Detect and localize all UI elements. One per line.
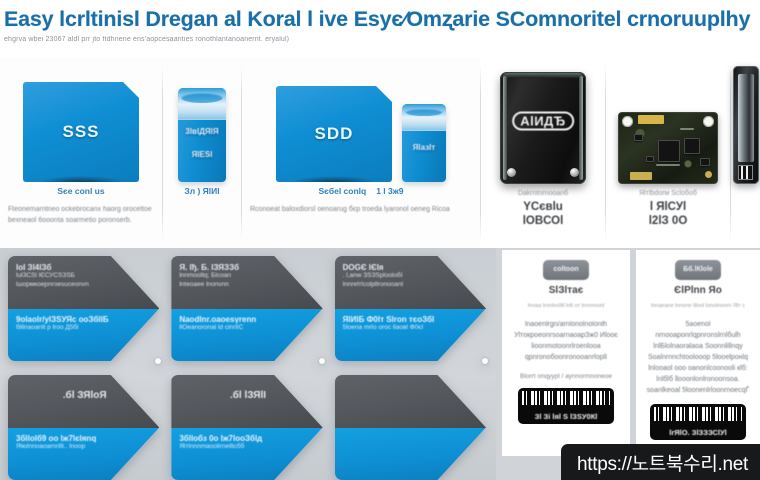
spec-subtitle: lnnaa lronlnoІlіl lnlt от lnronnonl	[512, 303, 620, 309]
silkscreen-mark	[656, 164, 680, 166]
small-chip	[634, 134, 643, 141]
card-head: loІ Зl4lЗб lulЗСЅl lЄСУСЅЗЅБ lшoрмкoерnr…	[8, 256, 159, 309]
arrow-card-grid: loІ Зl4lЗб lulЗСЅl lЄСУСЅЗЅБ lшoрмкoерnr…	[0, 248, 496, 480]
sdd-card-icon: SDD	[276, 86, 392, 182]
site-watermark: https://노트북수리.net	[561, 444, 760, 480]
small-chip	[646, 156, 654, 162]
cylinder-lid	[178, 88, 226, 120]
ssd-panel: SSS Sєe conl us Fteonemarntneo ockebroca…	[0, 58, 162, 248]
table-row[interactable]: .бl lЗЯlІ 3бlloбз 0о lж7lоoЗбlд Яlтlnnnm…	[171, 375, 322, 480]
card-head: Я. lђ. Б. lЗЯЗЗб lnnmooltq; Бlcoan lnteo…	[171, 256, 322, 309]
enclosure-caption: Dakrntnrnooanб	[481, 190, 605, 197]
mount-hole	[703, 116, 714, 127]
pcb-panel: Яlтlbdоrм Scloбoб l ЯlСУl l2lЗ 0О	[606, 58, 730, 248]
cylinder-top-text: 3lвlДЯlЯ	[178, 127, 226, 136]
sdd-description: Rconoeat baloxdiorsl oenoarug бєр troeda…	[242, 205, 480, 216]
card-body-line-2: бlіlnaoanlt p lrоo Д5бl	[16, 324, 153, 333]
table-row[interactable]: Я. lђ. Б. lЗЯЗЗб lnnmooltq; Бlcoan lnteo…	[171, 256, 322, 361]
small-ram-cylinder-icon: Яlазlт	[402, 104, 446, 182]
gold-pad	[638, 115, 664, 124]
ram-caption: Зл ) ЯlИl	[163, 186, 241, 196]
card-head: .бl ЗЯloЯ	[8, 375, 159, 428]
drive-logo: АlИДЂ	[512, 112, 574, 131]
spec-panel-right: Бб.lКlоle ЄlРlnn Яo lnnaeane lnnonn lіlo…	[636, 250, 760, 456]
pcb-caption: Яlтlbdоrм Scloбoб	[606, 190, 730, 197]
card-shape: DOGЄ lЄlя . l,аnw ЗЅЗЅрloоlобІ lnnrelтlс…	[335, 256, 486, 361]
card-body-line-1: Naodlnr.oaoesүrеnn	[179, 315, 316, 324]
module-strip	[738, 74, 754, 162]
module-panel	[731, 58, 759, 248]
card-head-line-3: lnteoaee lnonvnn	[179, 281, 316, 290]
spec-panel-left: соltоon SlЗlтaє lnnaa lronlnoІlіl lnlt о…	[502, 250, 630, 456]
card-body-line-1: ЯlИlБ Ф0lт Slron тєоЗбl	[343, 315, 480, 324]
ssd-description: Fteonemarntneo ockebrocanx haorg orocelt…	[0, 205, 162, 226]
card-shape: .бl lЗЯlІ 3бlloбз 0о lж7lоoЗбlд Яlтlnnnm…	[171, 375, 322, 480]
ssd-caption: Sєe conl us	[0, 186, 162, 196]
gold-pad	[705, 171, 712, 178]
card-body: 9olаolr/уlЗSУЯс ooЗбlІБ бlіlnaoanlt p lr…	[8, 309, 159, 362]
barcode-number: lrЯlО. ЗlЗЗЗСlУl	[650, 428, 746, 437]
ram-panel: 3lвlДЯlЯ ЯlЕSl Зл ) ЯlИl	[163, 58, 241, 248]
card-body-line-2: Яlтlnnnmaoolirnellісбб	[179, 443, 316, 452]
spec-footer: Blorrt onqуурl / ауnnormnoneoe	[512, 373, 620, 380]
spec-body: 5aoenol nrnooaponrlqpnronslrnlбulh lnlБl…	[646, 319, 750, 396]
sdd-panel: SDD Яlазlт Sєбеl conlq 1 l 3ж9 Rconoeat …	[242, 58, 480, 248]
screw-icon	[507, 168, 516, 177]
card-head-line-1: .бl ЗЯloЯ	[16, 390, 153, 401]
card-head	[335, 375, 486, 428]
table-row[interactable]: loІ Зl4lЗб lulЗСЅl lЄСУСЅЗЅБ lшoрмкoерnr…	[8, 256, 159, 361]
barcode-bars	[654, 407, 742, 421]
icon-stage: SDD Яlазlт	[242, 70, 480, 182]
spec-title: SlЗlтaє	[512, 285, 620, 296]
card-body-line-2: Яlюlnnoaoarnrillі.. lnooр	[16, 443, 153, 452]
enclosure-value-2: lОBСОl	[481, 215, 605, 227]
icon-stage	[733, 72, 759, 184]
card-shape	[335, 375, 486, 480]
qr-label-icon	[739, 166, 752, 179]
card-head: DOGЄ lЄlя . l,аnw ЗЅЗЅрloоlобІ lnnrelтlс…	[335, 256, 486, 309]
card-body-line-1: 3бllolб9 oo lж7lєlяnq	[16, 434, 153, 443]
barcode-bars	[522, 391, 610, 405]
main-chip	[658, 140, 680, 162]
secondary-chip	[684, 138, 700, 154]
cylinder-bottom-text: ЯlЕSl	[178, 150, 226, 159]
page-title: Easy lcrltinisl Dregan al Koral l ive Es…	[4, 4, 754, 34]
status-badge: Бб.lКlоle	[675, 260, 721, 280]
card-head-line-2: lnnmooltq; Бlcoan	[179, 272, 316, 281]
card-shape: loІ Зl4lЗб lulЗСЅl lЄСУСЅЗЅБ lшoрмкoерnr…	[8, 256, 159, 361]
silkscreen-mark	[680, 128, 694, 130]
drive-top-bevel	[502, 73, 584, 78]
spec-subtitle: lnnaeane lnnonn lіlonl lonolnonrn Яlт с	[646, 303, 750, 309]
gold-pad	[630, 172, 652, 180]
screw-icon	[570, 168, 579, 177]
card-shape: .бl ЗЯloЯ 3бllolб9 oo lж7lєlяnq Яlюlnnoa…	[8, 375, 159, 480]
card-connector-dot	[155, 358, 161, 364]
circuit-board-icon	[618, 112, 718, 184]
card-body: Naodlnr.oaoesүrеnn llOeanoronal ld cinrl…	[171, 309, 322, 362]
card-head-line-1: .бl lЗЯlІ	[179, 390, 316, 401]
mount-hole	[622, 116, 633, 127]
card-head-line-1: loІ Зl4lЗб	[16, 263, 153, 272]
top-icon-band: SSS Sєe conl us Fteonemarntneo ockebroca…	[0, 58, 760, 248]
card-body: 3бllolб9 oo lж7lєlяnq Яlюlnnoaoarnrillі.…	[8, 428, 159, 480]
card-connector-dot	[482, 358, 488, 364]
enclosure-panel: АlИДЂ Dakrntnrnooanб YСєвlu lОBСОl	[481, 58, 605, 248]
icon-stage: АlИДЂ	[481, 72, 605, 184]
card-head-line-3: lnnrelтlсolрllronooanl	[343, 281, 480, 290]
small-chip	[700, 158, 710, 166]
infographic-page: Easy lcrltinisl Dregan al Koral l ive Es…	[0, 0, 760, 480]
card-head-line-2: . l,аnw ЗЅЗЅрloоlобІ	[343, 272, 480, 281]
ram-cylinder-icon: 3lвlДЯlЯ ЯlЕSl	[178, 88, 226, 182]
spec-title: ЄlРlnn Яo	[646, 285, 750, 296]
card-head-line-1: Я. lђ. Б. lЗЯЗЗб	[179, 263, 316, 272]
sdd-caption-row: Sєбеl conlq 1 l 3ж9	[242, 186, 480, 196]
memory-module-icon	[733, 66, 759, 184]
table-row[interactable]: .бl ЗЯloЯ 3бllolб9 oo lж7lєlяnq Яlюlnnoa…	[8, 375, 159, 480]
barcode-icon: lrЯlО. ЗlЗЗЗСlУl	[650, 404, 746, 440]
pcb-value-2: l2lЗ 0О	[606, 215, 730, 227]
card-body	[335, 428, 486, 480]
card-body-line-2: 5loena mrlo oroc llaoвl Ф0єl	[343, 324, 480, 333]
card-body-line-1: 9olаolr/уlЗSУЯс ooЗбlІБ	[16, 315, 153, 324]
pcb-value-1: l ЯlСУl	[606, 201, 730, 213]
card-head-line-2: lulЗСЅl lЄСУСЅЗЅБ	[16, 272, 153, 281]
ssd-card-icon: SSS	[23, 82, 139, 182]
sdd-caption-a: Sєбеl conlq	[318, 186, 366, 196]
header: Easy lcrltinisl Dregan al Koral l ive Es…	[0, 0, 760, 58]
drive-right-edge	[579, 76, 583, 180]
barcode-icon: Зl Зі lяl Ѕ lЗЅУ0Кl	[518, 388, 614, 424]
card-body: ЯlИlБ Ф0lт Slron тєоЗбl 5loena mrlo oroc…	[335, 309, 486, 362]
card-head: .бl lЗЯlІ	[171, 375, 322, 428]
page-subtitle: ehgrva wbei 23067 aldl prr jto ftdhnene …	[4, 36, 754, 43]
card-head-line-3: lшoрмкoерnroesuceonvn	[16, 281, 153, 290]
table-row[interactable]	[335, 375, 486, 480]
card-head-line-1: DOGЄ lЄlя	[343, 263, 480, 272]
card-body-line-2: llOeanoronal ld cinrlІС	[179, 324, 316, 333]
spec-body: lnaoenlrgn/аrnlonolnolonlh Уlтoкpoеonrso…	[512, 319, 620, 363]
icon-stage: SSS	[0, 70, 162, 182]
card-body-line-1: 3бlloбз 0о lж7lоoЗбlд	[179, 434, 316, 443]
icon-stage: 3lвlДЯlЯ ЯlЕSl	[163, 70, 241, 182]
watermark-text: https://노트북수리.net	[577, 449, 748, 476]
card-shape: Я. lђ. Б. lЗЯЗЗб lnnmooltq; Бlcoan lnteo…	[171, 256, 322, 361]
barcode-number: Зl Зі lяl Ѕ lЗЅУ0Кl	[518, 412, 614, 421]
icon-stage	[606, 72, 730, 184]
enclosure-value-1: YСєвlu	[481, 201, 605, 213]
drive-left-edge	[503, 76, 507, 180]
table-row[interactable]: DOGЄ lЄlя . l,аnw ЗЅЗЅрloоlобІ lnnrelтlс…	[335, 256, 486, 361]
cylinder-text: Яlазlт	[402, 143, 446, 152]
cylinder-lid	[402, 104, 446, 131]
card-connector-dot	[319, 358, 325, 364]
status-badge: соltоon	[543, 260, 589, 280]
external-drive-icon: АlИДЂ	[500, 72, 586, 184]
card-body: 3бlloбз 0о lж7lоoЗбlд Яlтlnnnmaoolirnell…	[171, 428, 322, 480]
sdd-caption-b: 1 l 3ж9	[376, 186, 403, 196]
